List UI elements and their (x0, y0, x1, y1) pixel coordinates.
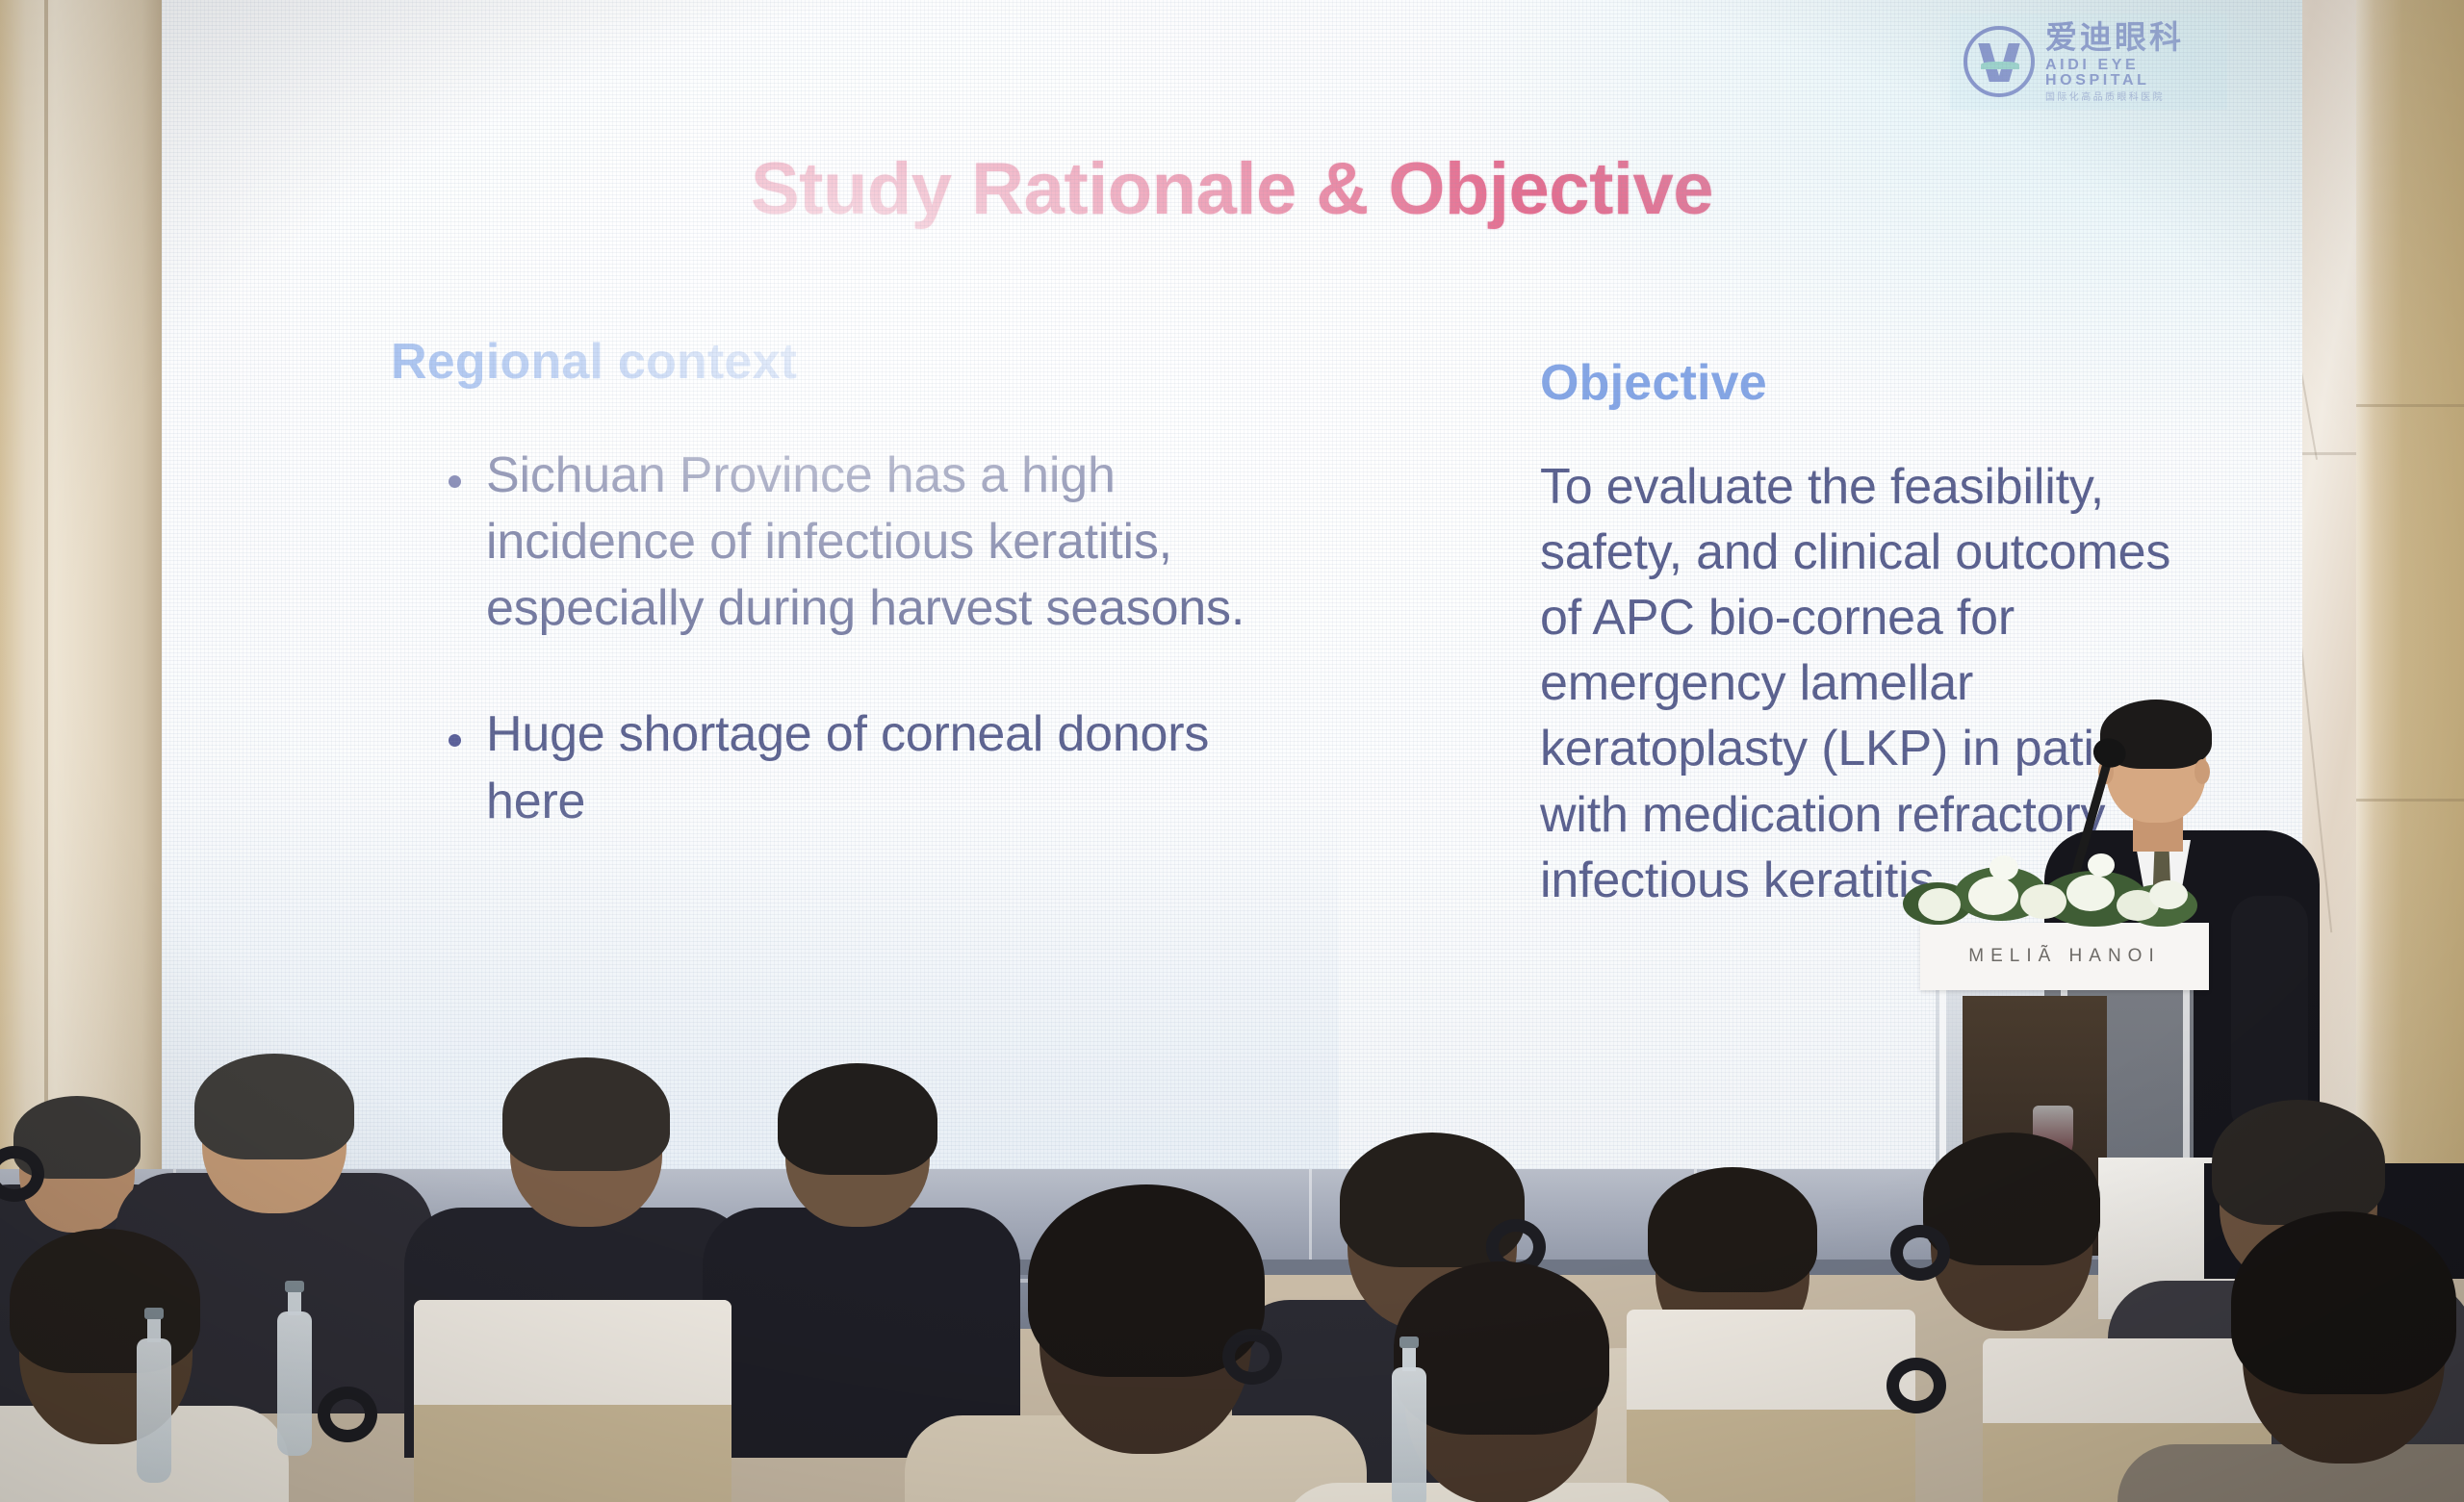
regional-context-bullets: Sichuan Province has a high incidence of… (391, 443, 1411, 835)
chair-back (414, 1300, 731, 1502)
conference-room-scene: 爱迪眼科 AIDI EYE HOSPITAL 国际化高品质眼科医院 Study … (0, 0, 2464, 1502)
logo-tagline: 国际化高品质眼科医院 (2045, 93, 2227, 103)
aidi-eye-hospital-logo: 爱迪眼科 AIDI EYE HOSPITAL 国际化高品质眼科医院 (1950, 13, 2227, 110)
slide-title: Study Rationale & Objective (162, 147, 2302, 231)
venue-name: MELIÃ HANOI (1968, 946, 2160, 967)
left-wall-column (0, 0, 162, 1179)
regional-context-heading: Regional context (391, 333, 1411, 391)
logo-english-name: AIDI EYE HOSPITAL (2045, 58, 2227, 89)
orchid-flower-arrangement (1897, 838, 2215, 944)
circular-a-eye-icon (1963, 26, 2035, 97)
water-bottle (277, 1311, 312, 1456)
audience-seating (0, 1050, 2464, 1502)
bullet-dot-icon (449, 734, 461, 747)
chair-back (1627, 1310, 1915, 1502)
objective-heading: Objective (1540, 354, 2214, 412)
list-item: Sichuan Province has a high incidence of… (391, 443, 1411, 642)
bullet-dot-icon (449, 475, 461, 488)
regional-context-column: Regional context Sichuan Province has a … (391, 333, 1411, 895)
list-item: Huge shortage of corneal donors here (391, 701, 1411, 834)
water-bottle (1392, 1367, 1426, 1502)
water-bottle (137, 1338, 171, 1483)
bullet-text: Sichuan Province has a high incidence of… (486, 443, 1275, 642)
bullet-text: Huge shortage of corneal donors here (486, 701, 1275, 834)
headset-icon (318, 1387, 377, 1442)
headset-icon (1886, 1358, 1946, 1413)
logo-chinese-name: 爱迪眼科 (2045, 21, 2227, 53)
